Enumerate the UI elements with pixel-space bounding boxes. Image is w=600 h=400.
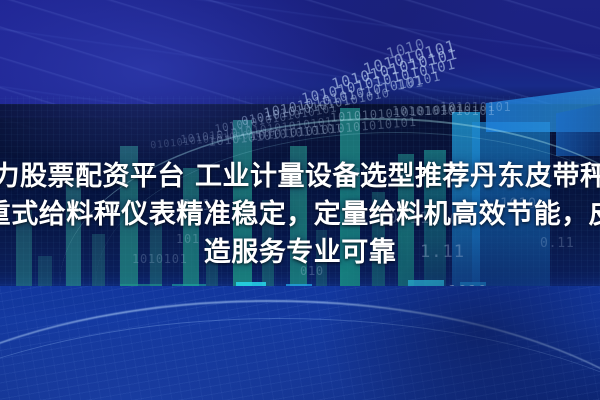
banner-image: 10101010101010101 0101010101010101010 10… (0, 0, 600, 400)
banner-headline: 配资实力股票配资平台 工业计量设备选型推荐丹东皮带秤价格合理，失重式给料秤仪表精… (0, 158, 600, 272)
